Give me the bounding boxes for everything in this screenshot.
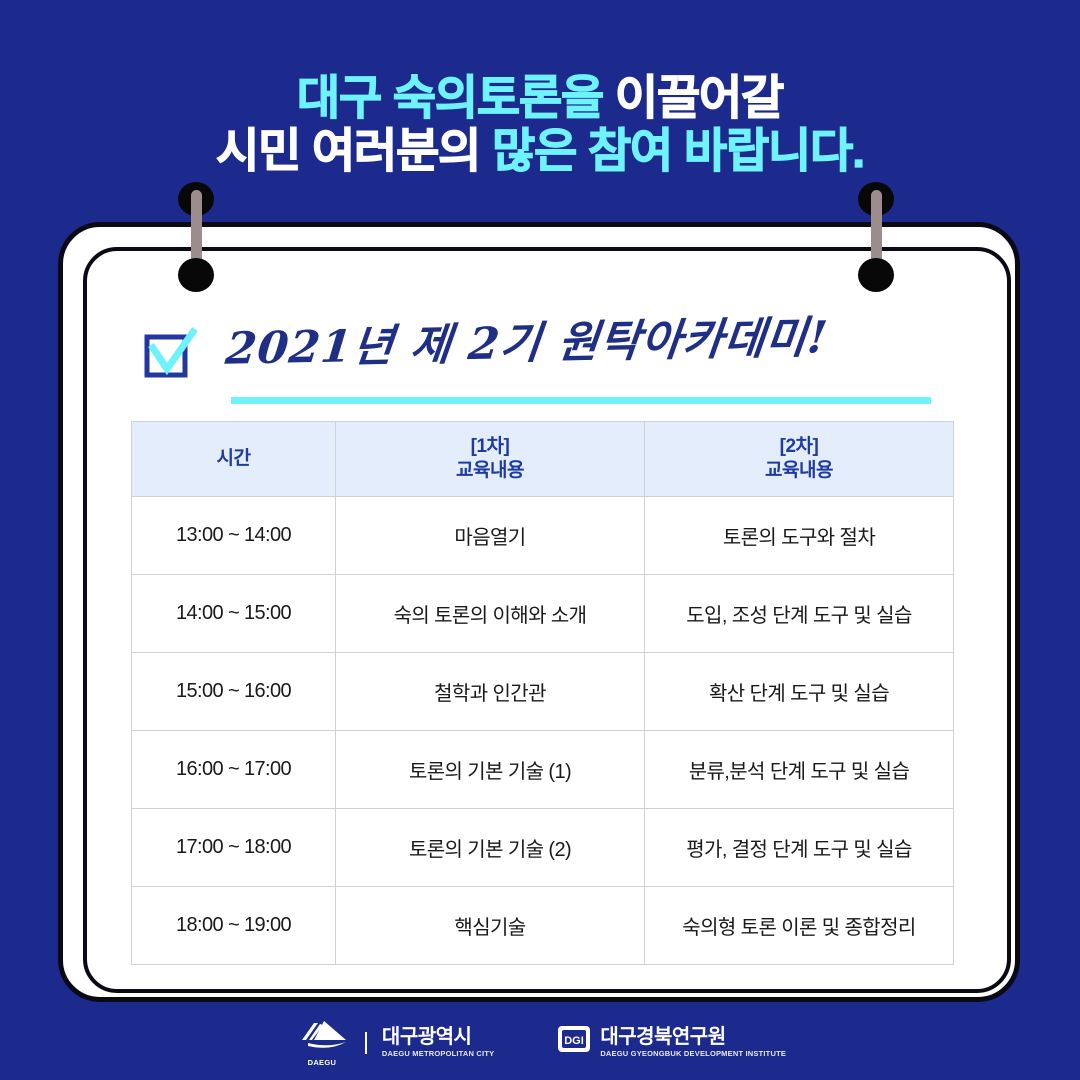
cell-second-session: 확산 단계 도구 및 실습: [645, 653, 954, 731]
daegu-mountain-icon: DAEGU: [294, 1018, 350, 1067]
cell-time: 17:00 ~ 18:00: [132, 809, 336, 887]
daegu-mark-label: DAEGU: [294, 1058, 350, 1067]
column-header-second-label: [2차]: [646, 435, 952, 459]
schedule-table-head: 시간 [1차] 교육내용 [2차] 교육내용: [132, 422, 954, 497]
logo-dgi: DGI 대구경북연구원 DAEGU GYEONGBUK DEVELOPMENT …: [556, 1024, 786, 1061]
logo-divider: [365, 1032, 367, 1054]
logo-daegu-korean: 대구광역시: [382, 1027, 494, 1048]
pushpin-right-icon: [858, 182, 894, 292]
cell-time: 15:00 ~ 16:00: [132, 653, 336, 731]
cell-time: 14:00 ~ 15:00: [132, 575, 336, 653]
cell-time: 16:00 ~ 17:00: [132, 731, 336, 809]
logo-dgi-texts: 대구경북연구원 DAEGU GYEONGBUK DEVELOPMENT INST…: [600, 1027, 786, 1058]
cell-second-session: 평가, 결정 단계 도구 및 실습: [645, 809, 954, 887]
footer-logos: DAEGU 대구광역시 DAEGU METROPOLITAN CITY DGI …: [0, 1018, 1080, 1067]
schedule-card: 2021년 제 2기 원탁아카데미! 시간 [1차] 교육내용 [2: [58, 222, 1020, 1002]
svg-text:DGI: DGI: [565, 1035, 585, 1047]
cell-first-session: 철학과 인간관: [336, 653, 645, 731]
session-title-underline: [231, 397, 931, 404]
session-title: 2021년 제 2기 원탁아카데미!: [223, 301, 832, 377]
cell-time: 18:00 ~ 19:00: [132, 887, 336, 965]
headline-line-2-white: 시민 여러분의: [216, 124, 492, 177]
logo-dgi-korean: 대구경북연구원: [600, 1027, 786, 1048]
checkbox-checked-icon: [141, 325, 197, 381]
logo-daegu-metropolitan-city: DAEGU 대구광역시 DAEGU METROPOLITAN CITY: [294, 1018, 494, 1067]
headline-line-2: 시민 여러분의 많은 참여 바랍니다.: [0, 125, 1080, 178]
cell-first-session: 마음열기: [336, 497, 645, 575]
table-row: 18:00 ~ 19:00 핵심기술 숙의형 토론 이론 및 종합정리: [132, 887, 954, 965]
headline-line-1-cyan: 대구 숙의토론을: [297, 71, 615, 124]
headline-line-1: 대구 숙의토론을 이끌어갈: [0, 72, 1080, 125]
logo-dgi-english: DAEGU GYEONGBUK DEVELOPMENT INSTITUTE: [600, 1050, 786, 1058]
table-header-row: 시간 [1차] 교육내용 [2차] 교육내용: [132, 422, 954, 497]
column-header-second-sub: 교육내용: [646, 459, 952, 483]
cell-first-session: 숙의 토론의 이해와 소개: [336, 575, 645, 653]
pushpin-left-icon: [178, 182, 214, 292]
column-header-first-session: [1차] 교육내용: [336, 422, 645, 497]
cell-second-session: 숙의형 토론 이론 및 종합정리: [645, 887, 954, 965]
cell-first-session: 토론의 기본 기술 (1): [336, 731, 645, 809]
card-heading-row: 2021년 제 2기 원탁아카데미!: [131, 313, 971, 409]
column-header-first-sub: 교육내용: [337, 459, 643, 483]
page-title: 대구 숙의토론을 이끌어갈 시민 여러분의 많은 참여 바랍니다.: [0, 72, 1080, 177]
schedule-card-content: 2021년 제 2기 원탁아카데미! 시간 [1차] 교육내용 [2: [87, 251, 1007, 989]
cell-first-session: 토론의 기본 기술 (2): [336, 809, 645, 887]
table-row: 15:00 ~ 16:00 철학과 인간관 확산 단계 도구 및 실습: [132, 653, 954, 731]
cell-time: 13:00 ~ 14:00: [132, 497, 336, 575]
logo-daegu-texts: 대구광역시 DAEGU METROPOLITAN CITY: [382, 1027, 494, 1058]
schedule-card-inner-border: 2021년 제 2기 원탁아카데미! 시간 [1차] 교육내용 [2: [83, 247, 1011, 993]
table-row: 16:00 ~ 17:00 토론의 기본 기술 (1) 분류,분석 단계 도구 …: [132, 731, 954, 809]
dgi-square-icon: DGI: [556, 1024, 592, 1061]
table-row: 13:00 ~ 14:00 마음열기 토론의 도구와 절차: [132, 497, 954, 575]
pushpin-right-foot: [858, 258, 894, 292]
column-header-second-session: [2차] 교육내용: [645, 422, 954, 497]
table-row: 14:00 ~ 15:00 숙의 토론의 이해와 소개 도입, 조성 단계 도구…: [132, 575, 954, 653]
logo-daegu-english: DAEGU METROPOLITAN CITY: [382, 1050, 494, 1058]
schedule-table: 시간 [1차] 교육내용 [2차] 교육내용 13:00 ~ 14:00: [131, 421, 954, 965]
headline-line-2-cyan: 많은 참여 바랍니다.: [492, 124, 864, 177]
cell-first-session: 핵심기술: [336, 887, 645, 965]
column-header-first-label: [1차]: [337, 435, 643, 459]
cell-second-session: 토론의 도구와 절차: [645, 497, 954, 575]
table-row: 17:00 ~ 18:00 토론의 기본 기술 (2) 평가, 결정 단계 도구…: [132, 809, 954, 887]
schedule-table-body: 13:00 ~ 14:00 마음열기 토론의 도구와 절차 14:00 ~ 15…: [132, 497, 954, 965]
cell-second-session: 도입, 조성 단계 도구 및 실습: [645, 575, 954, 653]
headline-line-1-white: 이끌어갈: [615, 71, 783, 124]
column-header-time: 시간: [132, 422, 336, 497]
cell-second-session: 분류,분석 단계 도구 및 실습: [645, 731, 954, 809]
pushpin-left-foot: [178, 258, 214, 292]
